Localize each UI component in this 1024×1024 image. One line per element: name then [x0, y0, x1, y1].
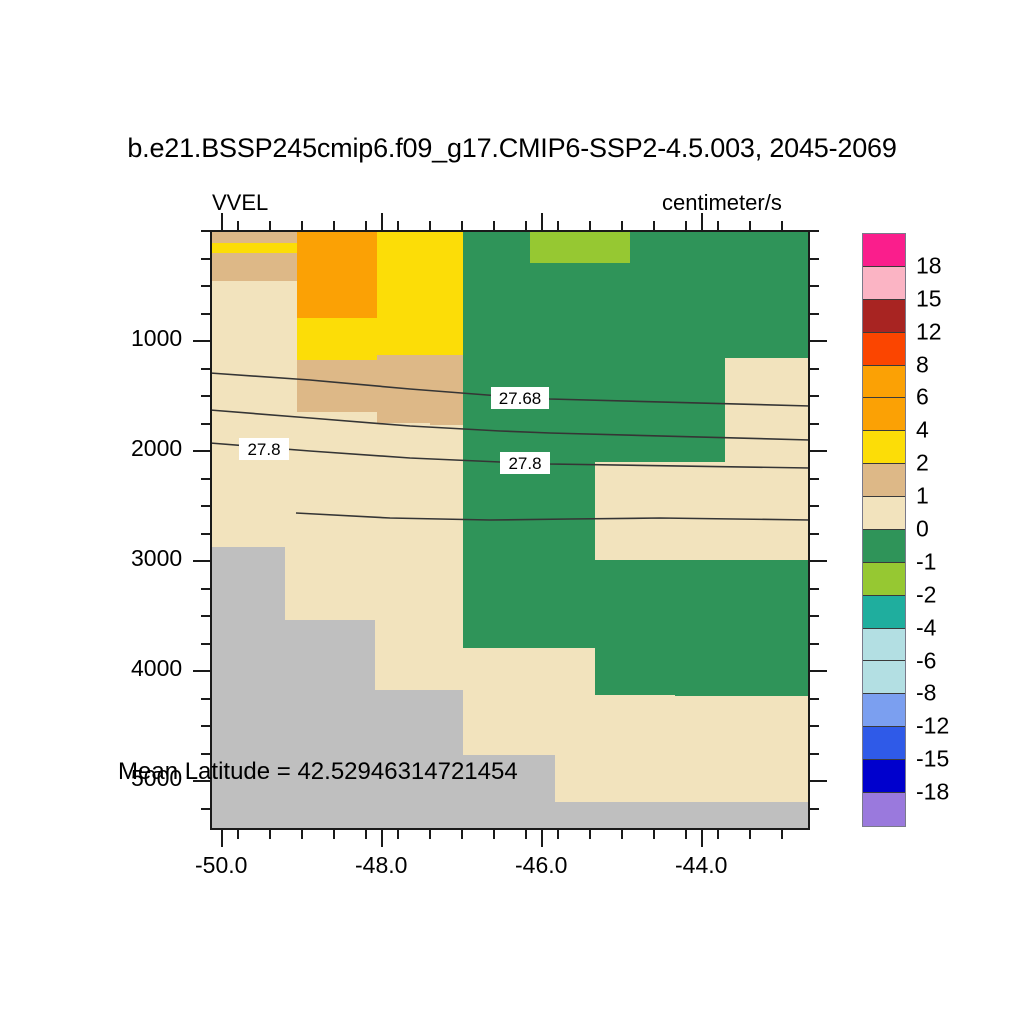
colorbar-band-11: [863, 596, 905, 629]
x-minor-tick-top: [557, 221, 559, 230]
y-minor-tick: [201, 395, 210, 397]
y-minor-tick: [201, 478, 210, 480]
y-minor-tick: [201, 313, 210, 315]
x-minor-tick: [397, 830, 399, 839]
colorbar-tick-label: -12: [916, 713, 949, 740]
x-tick-label: -46.0: [515, 852, 567, 879]
y-minor-tick-right: [810, 725, 819, 727]
x-tick-label: -44.0: [675, 852, 727, 879]
x-minor-tick: [301, 830, 303, 839]
x-minor-tick-top: [717, 221, 719, 230]
colorbar-tick-label: 1: [916, 483, 929, 510]
y-tick-label: 3000: [131, 545, 182, 572]
y-tick-label: 1000: [131, 325, 182, 352]
x-major-tick-top: [381, 213, 383, 230]
x-minor-tick: [653, 830, 655, 839]
colorbar-tick-label: 2: [916, 450, 929, 477]
colorbar-band-12: [863, 629, 905, 662]
colorbar-tick-label: 15: [916, 285, 942, 312]
x-minor-tick-top: [749, 221, 751, 230]
x-minor-tick-top: [525, 221, 527, 230]
colorbar-band-10: [863, 563, 905, 596]
x-minor-tick: [237, 830, 239, 839]
colorbar-band-3: [863, 333, 905, 366]
y-minor-tick-right: [810, 505, 819, 507]
y-minor-tick-right: [810, 643, 819, 645]
y-minor-tick: [201, 423, 210, 425]
y-major-tick-right: [810, 340, 827, 342]
colorbar-band-15: [863, 727, 905, 760]
y-minor-tick: [201, 725, 210, 727]
x-minor-tick: [365, 830, 367, 839]
y-major-tick-right: [810, 560, 827, 562]
x-major-tick: [221, 830, 223, 847]
y-minor-tick-right: [810, 258, 819, 260]
colorbar-band-9: [863, 530, 905, 563]
y-minor-tick: [201, 533, 210, 535]
y-minor-tick: [201, 368, 210, 370]
colorbar-band-1: [863, 267, 905, 300]
x-minor-tick-top: [653, 221, 655, 230]
y-minor-tick: [201, 588, 210, 590]
x-minor-tick: [589, 830, 591, 839]
mean-latitude-annotation: Mean Latitude = 42.52946314721454: [118, 758, 518, 786]
y-major-tick-right: [810, 780, 827, 782]
colorbar-band-8: [863, 497, 905, 530]
units-label: centimeter/s: [662, 190, 782, 216]
y-major-tick: [193, 340, 210, 342]
y-minor-tick-right: [810, 698, 819, 700]
colorbar-band-5: [863, 398, 905, 431]
x-minor-tick-top: [301, 221, 303, 230]
x-minor-tick-top: [685, 221, 687, 230]
colorbar-tick-label: -1: [916, 548, 936, 575]
plot-area: 27.68 27.8 27.8: [210, 230, 810, 830]
x-minor-tick-top: [237, 221, 239, 230]
colorbar-tick-label: 8: [916, 351, 929, 378]
y-minor-tick-right: [810, 808, 819, 810]
x-minor-tick-top: [589, 221, 591, 230]
x-minor-tick: [461, 830, 463, 839]
y-minor-tick-right: [810, 313, 819, 315]
colorbar-band-7: [863, 464, 905, 497]
colorbar-tick-label: -18: [916, 779, 949, 806]
colorbar-band-0: [863, 234, 905, 267]
x-minor-tick-top: [621, 221, 623, 230]
y-minor-tick-right: [810, 615, 819, 617]
colorbar-tick-label: 4: [916, 417, 929, 444]
y-minor-tick-right: [810, 478, 819, 480]
colorbar-tick-label: 6: [916, 384, 929, 411]
figure-title: b.e21.BSSP245cmip6.f09_g17.CMIP6-SSP2-4.…: [0, 133, 1024, 164]
y-minor-tick-right: [810, 395, 819, 397]
colorbar-tick-label: -8: [916, 680, 936, 707]
y-tick-label: 4000: [131, 655, 182, 682]
colorbar-band-16: [863, 760, 905, 793]
colorbar-tick-label: -2: [916, 581, 936, 608]
x-minor-tick: [269, 830, 271, 839]
y-minor-tick: [201, 753, 210, 755]
x-major-tick-top: [221, 213, 223, 230]
figure-canvas: b.e21.BSSP245cmip6.f09_g17.CMIP6-SSP2-4.…: [0, 0, 1024, 1024]
y-minor-tick: [201, 643, 210, 645]
colorbar[interactable]: [862, 233, 906, 827]
x-minor-tick-top: [493, 221, 495, 230]
x-minor-tick: [493, 830, 495, 839]
y-minor-tick-right: [810, 533, 819, 535]
x-minor-tick: [621, 830, 623, 839]
y-major-tick: [193, 450, 210, 452]
y-minor-tick: [201, 230, 210, 232]
colorbar-band-17: [863, 793, 905, 826]
x-tick-label: -48.0: [355, 852, 407, 879]
y-major-tick-right: [810, 450, 827, 452]
x-major-tick: [701, 830, 703, 847]
y-minor-tick-right: [810, 588, 819, 590]
y-minor-tick-right: [810, 230, 819, 232]
x-minor-tick-top: [333, 221, 335, 230]
x-minor-tick-top: [397, 221, 399, 230]
x-minor-tick-top: [781, 221, 783, 230]
x-major-tick: [381, 830, 383, 847]
y-minor-tick: [201, 285, 210, 287]
y-minor-tick-right: [810, 368, 819, 370]
colorbar-tick-label: 0: [916, 516, 929, 543]
colorbar-tick-label: 12: [916, 318, 942, 345]
x-tick-label: -50.0: [195, 852, 247, 879]
x-minor-tick: [717, 830, 719, 839]
y-minor-tick-right: [810, 753, 819, 755]
plot-frame: [210, 230, 810, 830]
colorbar-tick-label: -4: [916, 614, 936, 641]
y-minor-tick: [201, 808, 210, 810]
colorbar-band-14: [863, 694, 905, 727]
y-minor-tick-right: [810, 423, 819, 425]
y-minor-tick: [201, 698, 210, 700]
x-minor-tick-top: [461, 221, 463, 230]
y-minor-tick: [201, 505, 210, 507]
colorbar-band-2: [863, 300, 905, 333]
y-minor-tick: [201, 258, 210, 260]
x-minor-tick: [749, 830, 751, 839]
colorbar-band-6: [863, 431, 905, 464]
x-major-tick: [541, 830, 543, 847]
y-major-tick: [193, 670, 210, 672]
y-tick-label: 2000: [131, 435, 182, 462]
x-minor-tick: [781, 830, 783, 839]
y-major-tick-right: [810, 670, 827, 672]
x-minor-tick-top: [269, 221, 271, 230]
colorbar-tick-label: -6: [916, 647, 936, 674]
y-major-tick: [193, 560, 210, 562]
x-minor-tick-top: [365, 221, 367, 230]
colorbar-tick-label: -15: [916, 746, 949, 773]
x-minor-tick: [429, 830, 431, 839]
colorbar-tick-label: 18: [916, 252, 942, 279]
x-minor-tick: [557, 830, 559, 839]
x-minor-tick-top: [429, 221, 431, 230]
y-minor-tick-right: [810, 285, 819, 287]
x-minor-tick: [525, 830, 527, 839]
x-minor-tick: [333, 830, 335, 839]
colorbar-band-4: [863, 366, 905, 399]
colorbar-band-13: [863, 661, 905, 694]
x-major-tick-top: [701, 213, 703, 230]
y-minor-tick: [201, 615, 210, 617]
x-major-tick-top: [541, 213, 543, 230]
x-minor-tick: [685, 830, 687, 839]
